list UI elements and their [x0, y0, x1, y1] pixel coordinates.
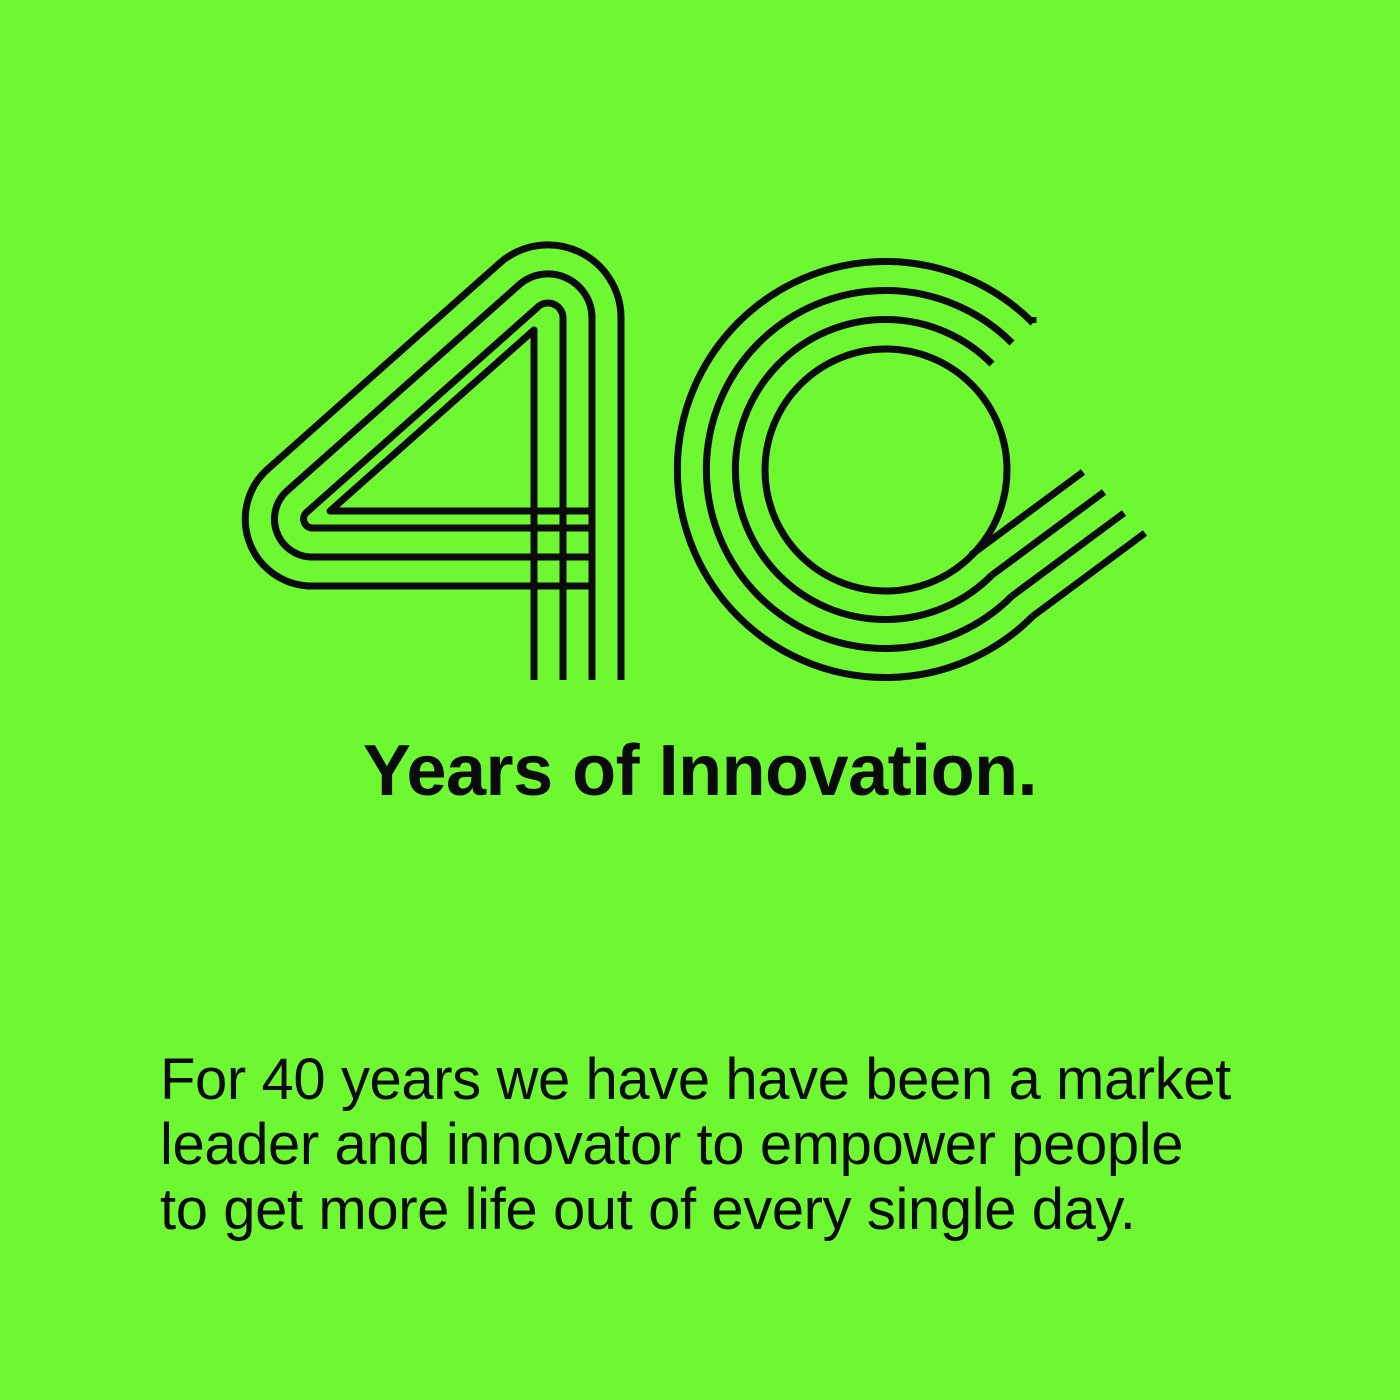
- body-line-1: For 40 years we have have been a market: [160, 1047, 1280, 1112]
- body-line-2: leader and innovator to empower people: [160, 1112, 1280, 1177]
- body-copy: For 40 years we have have been a market …: [160, 1047, 1280, 1242]
- poster-canvas: Years of Innovation. For 40 years we hav…: [0, 0, 1400, 1400]
- anniversary-logo: [0, 0, 1400, 720]
- body-line-3: to get more life out of every single day…: [160, 1177, 1280, 1242]
- logo-40-icon: [0, 0, 1400, 720]
- page-title: Years of Innovation.: [0, 735, 1400, 807]
